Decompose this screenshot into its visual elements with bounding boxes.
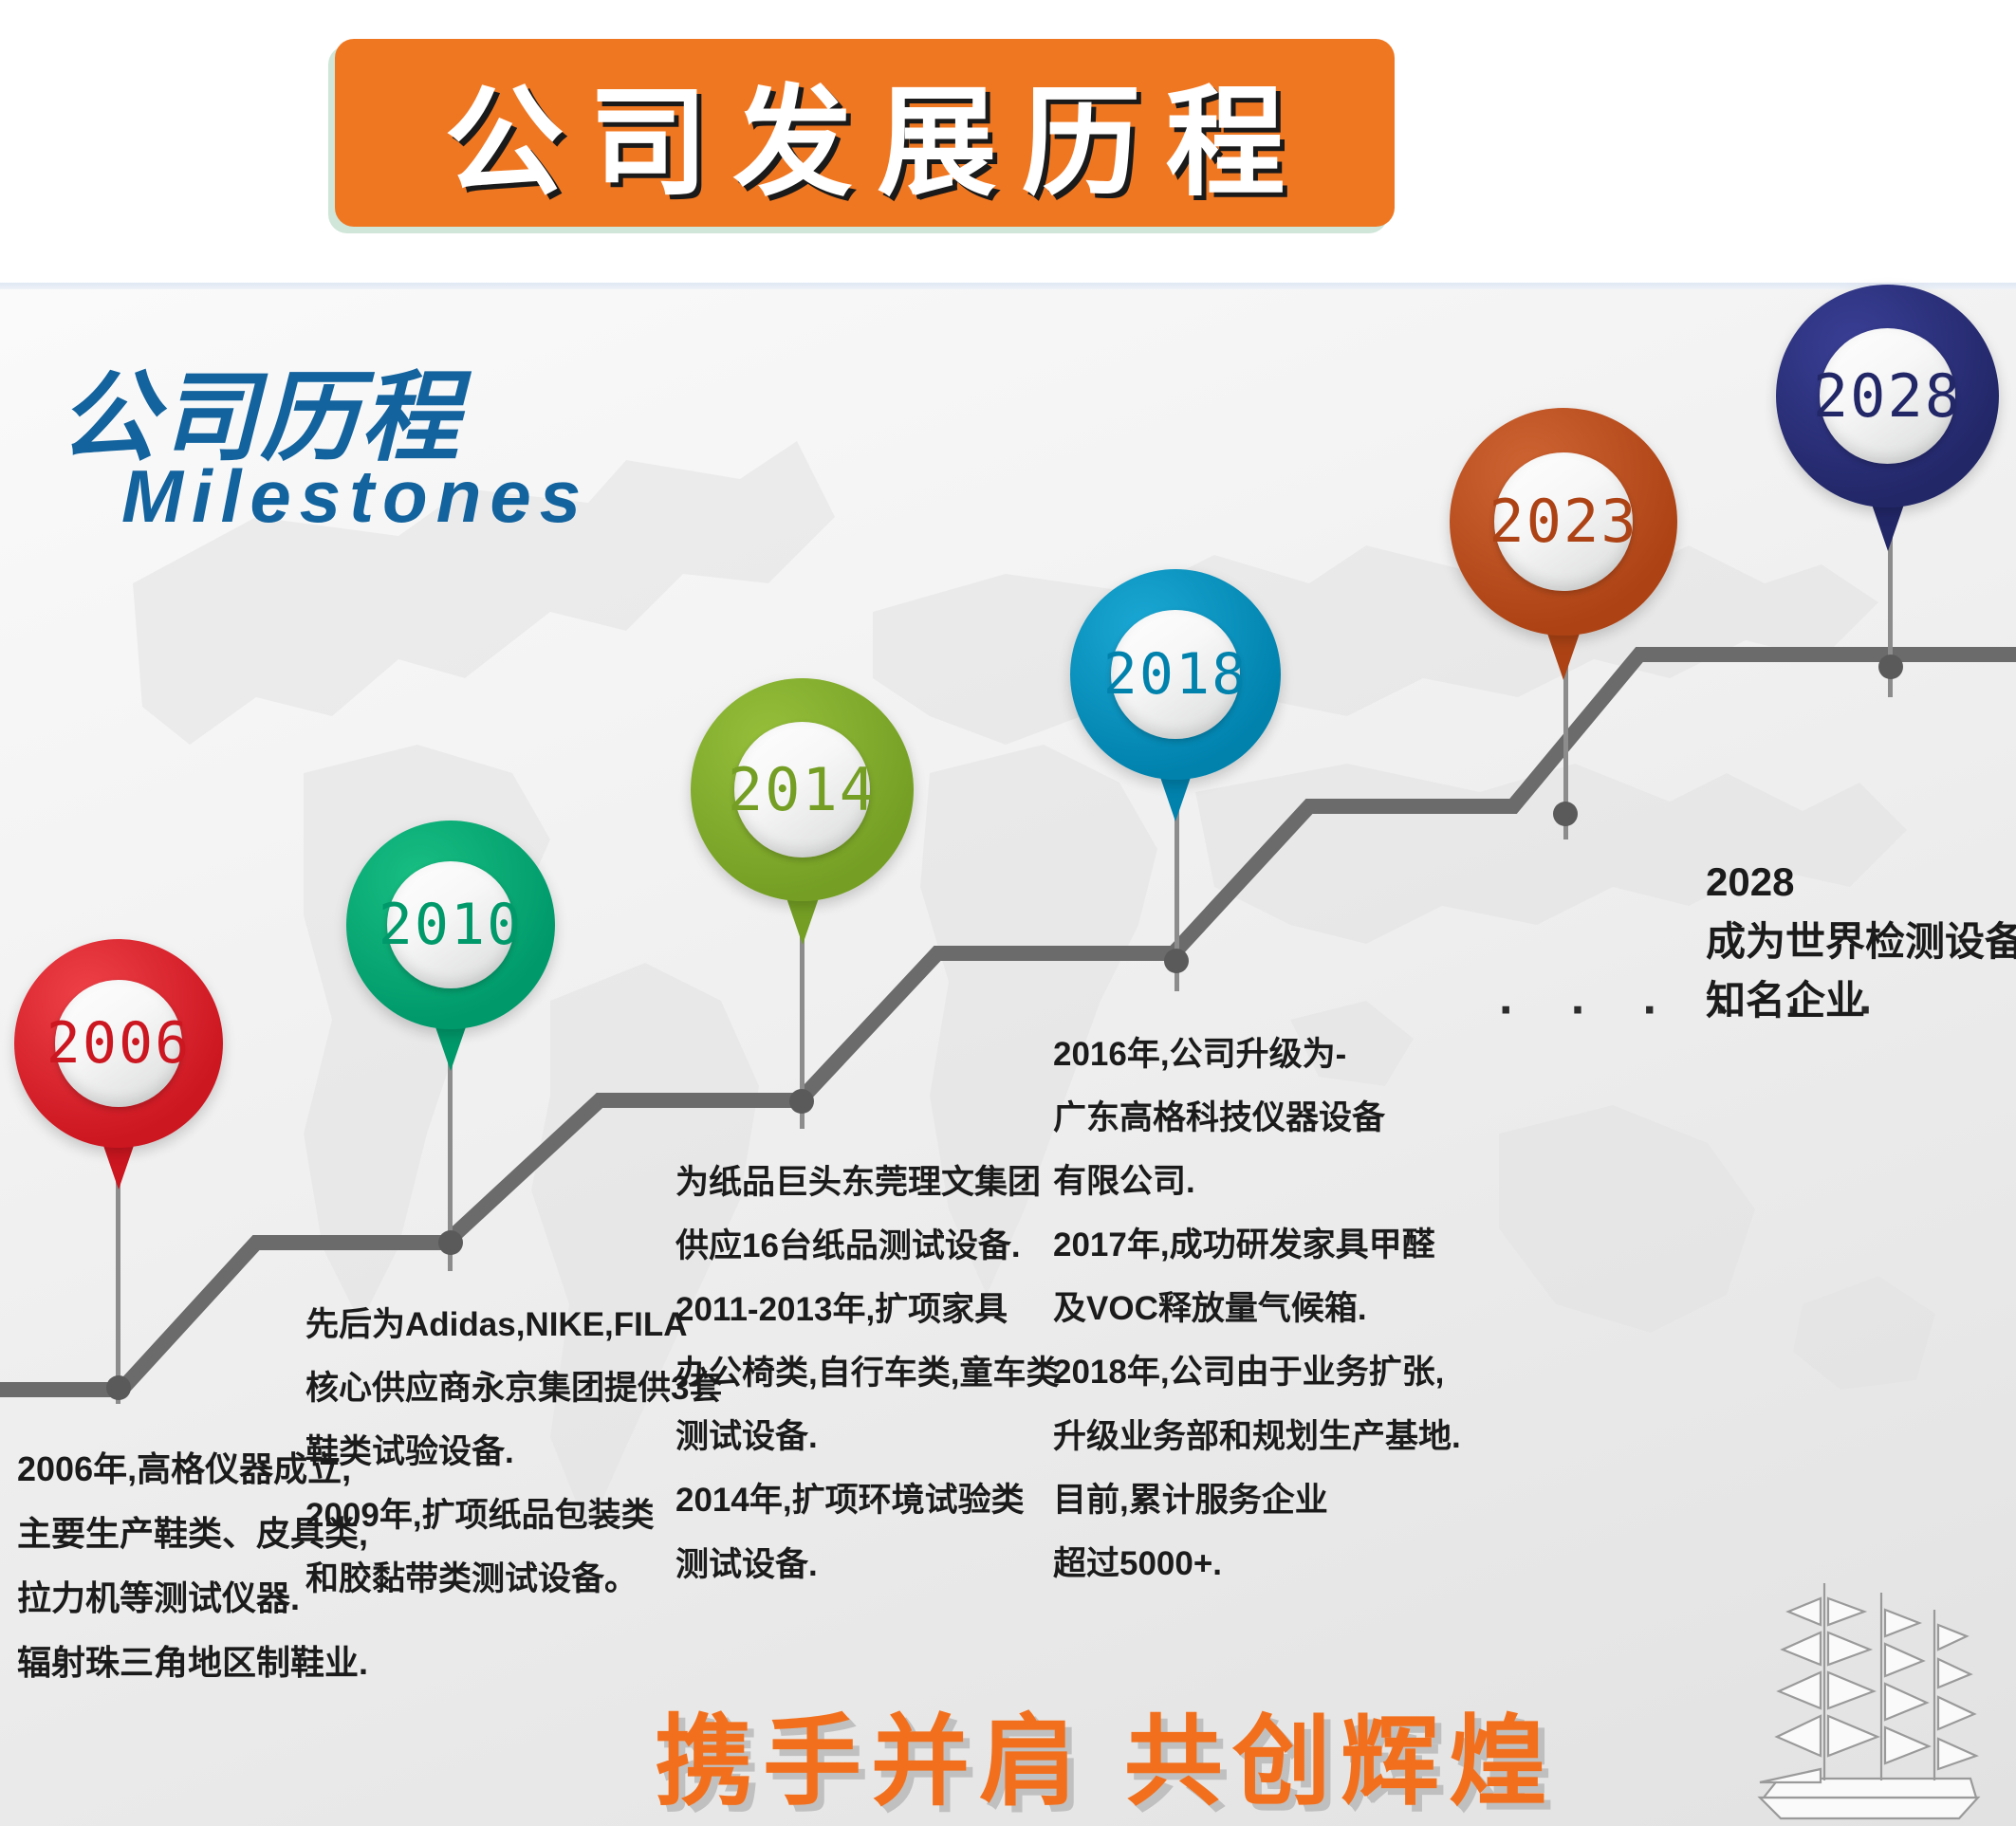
pin-year-badge: 2018 [1111,610,1239,738]
header-banner: 公司发展历程 [335,39,1395,227]
text-line: 为纸品巨头东莞理文集团 [675,1165,1059,1200]
milestone-pin-2014[interactable]: 2014 [691,678,914,901]
milestone-pin-2023[interactable]: 2023 [1450,408,1677,636]
text-line: 和胶黏带类测试设备。 [305,1561,722,1596]
text-line: 测试设备. [675,1547,1059,1582]
pin-year-label: 2006 [46,1010,192,1077]
text-line: 先后为Adidas,NIKE,FILA [305,1307,722,1342]
pin-year-badge: 2023 [1494,452,1633,591]
text-line: 目前,累计服务企业 [1053,1483,1461,1518]
text-line: 及VOC释放量气候箱. [1053,1291,1461,1326]
pin-year-badge: 2014 [734,722,870,858]
infographic-poster: 公司发展历程 公司历程 Milestones 2006 2006年,高格仪器成立… [0,0,2016,1826]
text-line: 2011-2013年,扩项家具 [675,1292,1059,1327]
milestone-text-2018: 2016年,公司升级为- 广东高格科技仪器设备 有限公司. 2017年,成功研发… [1053,1037,1461,1581]
milestone-pin-2028[interactable]: 2028 [1776,285,1999,507]
pin-year-label: 2028 [1813,361,1962,431]
milestone-pin-2006[interactable]: 2006 [14,939,223,1148]
text-line: 2018年,公司由于业务扩张, [1053,1355,1461,1390]
page-title: 公司发展历程 [335,39,1395,227]
text-line: 辐射珠三角地区制鞋业. [17,1645,368,1681]
text-line: 升级业务部和规划生产基地. [1053,1419,1461,1454]
text-line: 超过5000+. [1053,1546,1461,1581]
text-line: 办公椅类,自行车类,童车类 [675,1356,1059,1391]
milestone-text-2028: 2028 成为世界检测设备 知名企业 [1706,861,2016,1023]
milestone-text-2014: 为纸品巨头东莞理文集团 供应16台纸品测试设备. 2011-2013年,扩项家具… [675,1165,1059,1582]
text-line: 2028 [1706,861,2016,904]
sailing-ship-icon [1722,1570,2007,1826]
text-line: 成为世界检测设备 [1706,921,2016,964]
pin-dot-2010 [438,1230,463,1255]
pin-year-badge: 2006 [55,980,182,1107]
pin-year-label: 2018 [1103,641,1248,708]
text-line: 知名企业 [1706,980,2016,1023]
text-line: 有限公司. [1053,1164,1461,1199]
pin-year-label: 2010 [379,892,524,958]
text-line: 2014年,扩项环境试验类 [675,1483,1059,1518]
text-line: 2009年,扩项纸品包装类 [305,1498,722,1533]
milestone-pin-2010[interactable]: 2010 [346,821,555,1029]
text-line: 广东高格科技仪器设备 [1053,1100,1461,1135]
pin-year-badge: 2010 [387,861,514,988]
pin-dot-2023 [1553,802,1578,826]
section-title-en: Milestones [121,453,589,540]
milestone-pin-2018[interactable]: 2018 [1070,569,1281,780]
slogan: 携手并肩 共创辉煌 [655,1681,1557,1824]
milestone-text-2010: 先后为Adidas,NIKE,FILA 核心供应商永京集团提供3套 鞋类试验设备… [305,1307,722,1596]
text-line: 供应16台纸品测试设备. [675,1228,1059,1263]
text-line: 2016年,公司升级为- [1053,1037,1461,1072]
pin-year-label: 2014 [728,755,877,824]
pin-year-badge: 2028 [1820,328,1955,464]
text-line: 测试设备. [675,1419,1059,1454]
pin-stem-2006 [116,1176,120,1404]
pin-dot-2028 [1878,655,1903,679]
text-line: 鞋类试验设备. [305,1434,722,1469]
pin-year-label: 2023 [1489,487,1637,556]
pin-dot-2006 [106,1375,131,1400]
pin-dot-2014 [789,1089,814,1114]
text-line: 核心供应商永京集团提供3套 [305,1371,722,1406]
pin-dot-2018 [1164,949,1189,973]
text-line: 2017年,成功研发家具甲醛 [1053,1227,1461,1263]
